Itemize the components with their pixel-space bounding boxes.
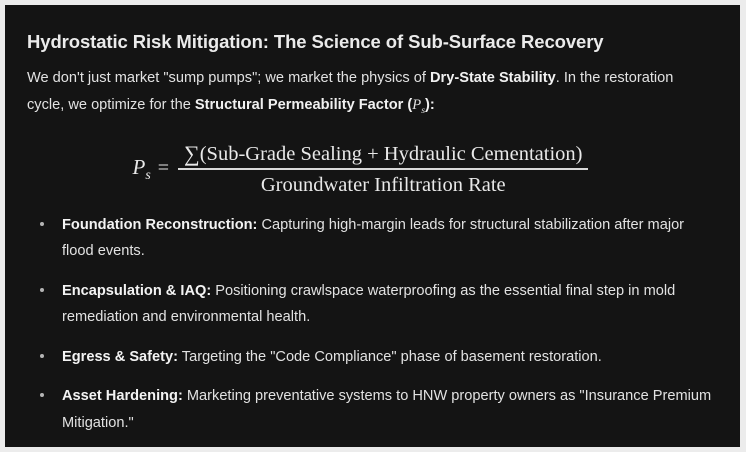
bullet-dot-icon (40, 288, 44, 292)
formula-variable-base: P (133, 155, 146, 179)
formula-block: Ps = ∑(Sub-Grade Sealing + Hydraulic Cem… (27, 138, 718, 200)
formula-equals-sign: = (158, 157, 169, 180)
summation-icon: ∑ (184, 141, 200, 166)
list-item: Asset Hardening: Marketing preventative … (27, 383, 718, 436)
formula-denominator: Groundwater Infiltration Rate (255, 170, 512, 197)
formula-fraction: ∑(Sub-Grade Sealing + Hydraulic Cementat… (178, 140, 588, 197)
formula-numerator: ∑(Sub-Grade Sealing + Hydraulic Cementat… (178, 140, 588, 168)
inline-math-variable: Ps (412, 97, 425, 113)
page-title: Hydrostatic Risk Mitigation: The Science… (27, 31, 718, 53)
formula-left-hand-side: Ps (133, 155, 151, 183)
list-item-term: Egress & Safety: (62, 349, 178, 365)
intro-math-close-paren: ): (425, 97, 435, 113)
list-item-term: Foundation Reconstruction: (62, 217, 257, 233)
intro-bold-dry-state-stability: Dry-State Stability (430, 70, 556, 86)
intro-text-part1: We don't just market "sump pumps"; we ma… (27, 70, 430, 86)
intro-math-open-paren: ( (403, 97, 412, 113)
formula-variable-subscript: s (145, 167, 150, 182)
content-card: Hydrostatic Risk Mitigation: The Science… (5, 5, 740, 447)
bullet-dot-icon (40, 354, 44, 358)
formula-numerator-text: (Sub-Grade Sealing + Hydraulic Cementati… (200, 143, 583, 165)
list-item-term: Encapsulation & IAQ: (62, 283, 211, 299)
list-item-term: Asset Hardening: (62, 388, 183, 404)
list-item: Encapsulation & IAQ: Positioning crawlsp… (27, 278, 718, 331)
list-item: Foundation Reconstruction: Capturing hig… (27, 212, 718, 265)
bullet-dot-icon (40, 393, 44, 397)
intro-paragraph: We don't just market "sump pumps"; we ma… (27, 65, 687, 120)
bullet-dot-icon (40, 222, 44, 226)
intro-bold-structural-permeability-factor: Structural Permeability Factor (195, 97, 403, 113)
formula: Ps = ∑(Sub-Grade Sealing + Hydraulic Cem… (133, 140, 589, 197)
list-item: Egress & Safety: Targeting the "Code Com… (27, 344, 718, 371)
benefits-list: Foundation Reconstruction: Capturing hig… (27, 212, 718, 437)
inline-math-variable-base: P (412, 97, 421, 113)
list-item-text: Targeting the "Code Compliance" phase of… (178, 349, 602, 365)
